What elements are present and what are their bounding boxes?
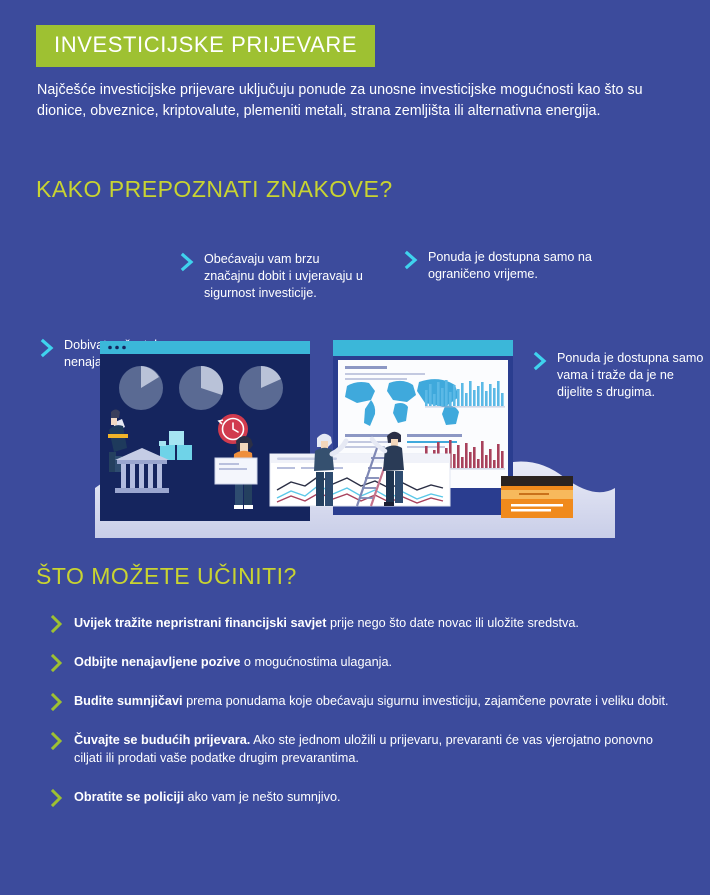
action-item-be-suspicious-text: Budite sumnjičavi prema ponudama koje ob… xyxy=(74,692,669,710)
action-rest: ako vam je nešto sumnjivo. xyxy=(184,790,341,804)
callout-limited-time-text: Ponuda je dostupna samo na ograničeno vr… xyxy=(428,249,594,283)
investment-dashboard-illustration xyxy=(95,338,615,538)
action-rest: o mogućnostima ulaganja. xyxy=(240,655,392,669)
chevron-right-icon xyxy=(50,615,64,638)
chevron-right-icon xyxy=(40,338,55,363)
action-item-contact-police-text: Obratite se policiji ako vam je nešto su… xyxy=(74,788,341,806)
action-bold: Odbijte nenajavljene pozive xyxy=(74,655,240,669)
action-bold: Budite sumnjičavi xyxy=(74,694,183,708)
callout-limited-time: Ponuda je dostupna samo na ograničeno vr… xyxy=(404,249,594,283)
callout-promise: Obećavaju vam brzu značajnu dobit i uvje… xyxy=(180,251,365,302)
chevron-right-icon xyxy=(50,789,64,812)
action-item-future-scams: Čuvajte se budućih prijevara. Ako ste je… xyxy=(50,731,662,767)
chevron-right-icon xyxy=(50,693,64,716)
chevron-right-icon xyxy=(50,654,64,677)
action-rest: prema ponudama koje obećavaju sigurnu in… xyxy=(183,694,669,708)
chevron-right-icon xyxy=(50,732,64,755)
chevron-right-icon xyxy=(404,250,419,275)
action-item-reject-calls: Odbijte nenajavljene pozive o mogućnosti… xyxy=(50,653,680,677)
section-heading-signs: KAKO PREPOZNATI ZNAKOVE? xyxy=(36,176,393,203)
section-heading-actions: ŠTO MOŽETE UČINITI? xyxy=(36,563,297,590)
action-item-advice: Uvijek tražite nepristrani financijski s… xyxy=(50,614,680,638)
intro-paragraph: Najčešće investicijske prijevare uključu… xyxy=(37,80,682,121)
action-item-reject-calls-text: Odbijte nenajavljene pozive o mogućnosti… xyxy=(74,653,392,671)
action-item-future-scams-text: Čuvajte se budućih prijevara. Ako ste je… xyxy=(74,731,662,767)
action-bold: Čuvajte se budućih prijevara. xyxy=(74,733,250,747)
action-item-contact-police: Obratite se policiji ako vam je nešto su… xyxy=(50,788,680,812)
action-rest: prije nego što date novac ili uložite sr… xyxy=(326,616,578,630)
chevron-right-icon xyxy=(180,252,195,277)
action-item-advice-text: Uvijek tražite nepristrani financijski s… xyxy=(74,614,579,632)
action-bold: Obratite se policiji xyxy=(74,790,184,804)
action-bold: Uvijek tražite nepristrani financijski s… xyxy=(74,616,326,630)
callout-promise-text: Obećavaju vam brzu značajnu dobit i uvje… xyxy=(204,251,365,302)
footer: EUROPOL EC3 European Cybercrime Centre E… xyxy=(0,828,710,895)
page-title: INVESTICIJSKE PRIJEVARE xyxy=(36,25,375,67)
action-item-be-suspicious: Budite sumnjičavi prema ponudama koje ob… xyxy=(50,692,680,716)
